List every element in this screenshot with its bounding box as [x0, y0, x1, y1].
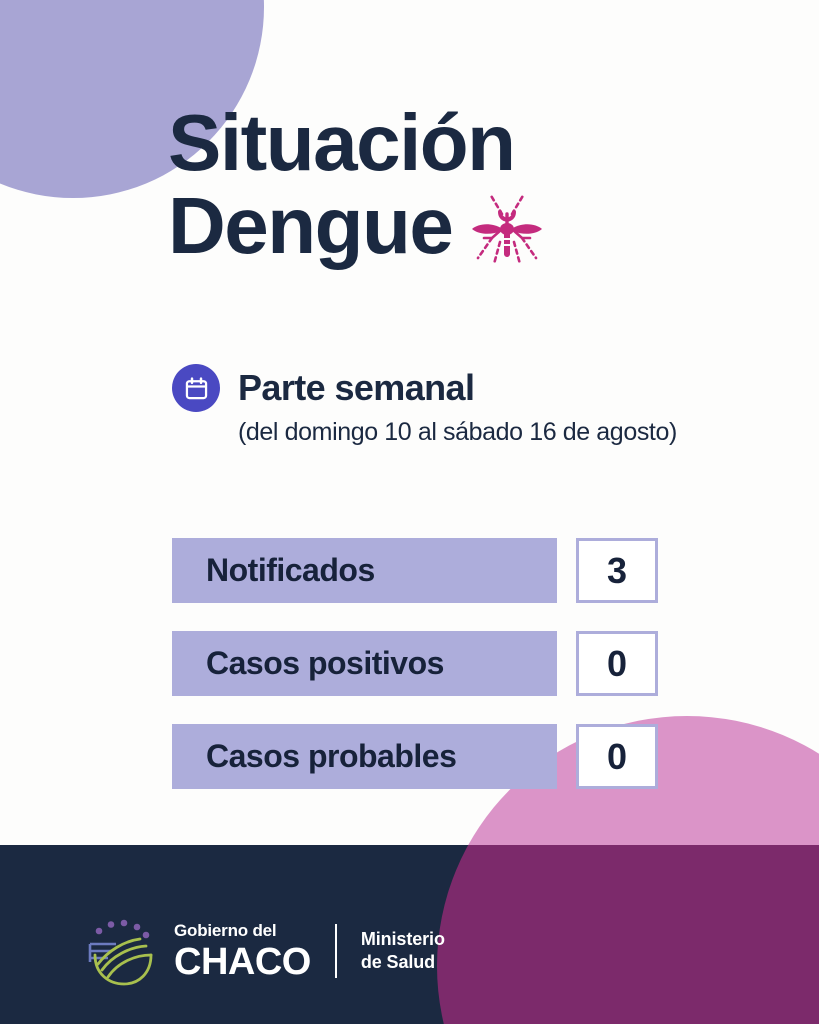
stat-label-casos-positivos: Casos positivos	[172, 631, 557, 696]
weekly-report-date-range: (del domingo 10 al sábado 16 de agosto)	[238, 418, 772, 447]
title-line-2: Dengue	[168, 187, 452, 265]
footer-divider	[335, 924, 337, 978]
stat-row: Notificados 3	[172, 538, 662, 603]
footer-branding: Gobierno del CHACO Ministerio de Salud	[86, 914, 445, 988]
ministry-line-2: de Salud	[361, 951, 445, 974]
poster-canvas: Situación Dengue	[0, 0, 819, 1024]
calendar-icon	[172, 364, 220, 412]
government-name: Gobierno del CHACO	[174, 922, 311, 981]
page-title: Situación Dengue	[168, 104, 728, 270]
stat-row: Casos positivos 0	[172, 631, 662, 696]
chaco-government-logo-icon	[86, 914, 158, 988]
mosquito-icon	[468, 186, 546, 270]
government-line-2: CHACO	[174, 943, 311, 981]
stats-list: Notificados 3 Casos positivos 0 Casos pr…	[172, 538, 662, 789]
stat-label-casos-probables: Casos probables	[172, 724, 557, 789]
title-line-1: Situación	[168, 104, 728, 182]
stat-value-notificados: 3	[576, 538, 658, 603]
weekly-report-header: Parte semanal (del domingo 10 al sábado …	[172, 364, 772, 447]
title-line-2-row: Dengue	[168, 182, 728, 270]
ministry-line-1: Ministerio	[361, 928, 445, 951]
government-line-1: Gobierno del	[174, 922, 311, 939]
stat-row: Casos probables 0	[172, 724, 662, 789]
stat-value-casos-probables: 0	[576, 724, 658, 789]
weekly-report-title: Parte semanal	[238, 367, 474, 409]
ministry-name: Ministerio de Salud	[361, 928, 445, 974]
stat-label-notificados: Notificados	[172, 538, 557, 603]
weekly-report-title-row: Parte semanal	[172, 364, 772, 412]
stat-value-casos-positivos: 0	[576, 631, 658, 696]
